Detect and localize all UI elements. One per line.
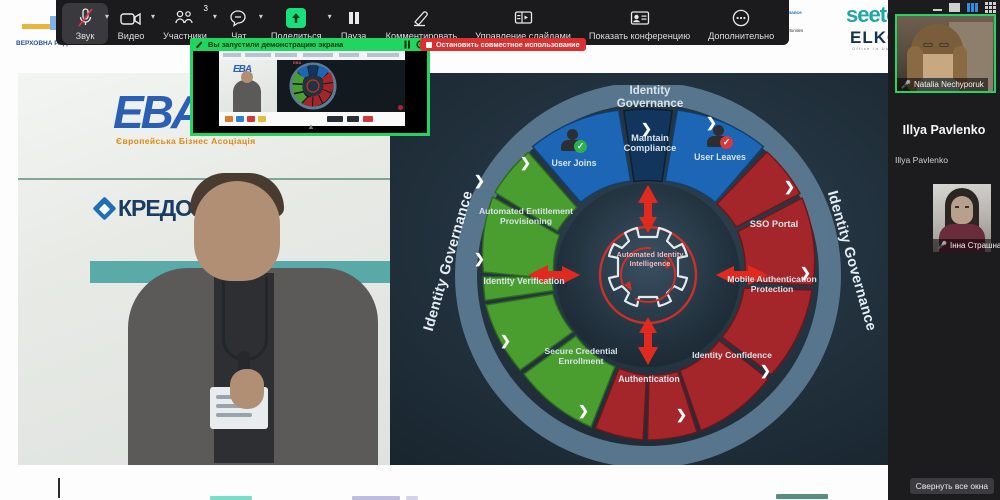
shared-screen-stage[interactable]: EBA Європейська Бізнес Асоціація КРЕДОБА…	[18, 73, 982, 465]
stop-sharing-label: Остановить совместное использование	[436, 40, 580, 49]
pause-small-icon[interactable]	[404, 40, 411, 49]
toolbar-button-more[interactable]: Дополнительно	[699, 3, 783, 44]
eba-logo-subtitle: Європейська Бізнес Асоціація	[116, 136, 256, 146]
toolbar-label-show-meeting: Показать конференцию	[589, 31, 690, 41]
preview-house-logo-icon	[398, 105, 403, 110]
chevron-up-icon[interactable]: ▲	[307, 122, 315, 131]
active-speaker-name: Illya Pavlenko	[888, 123, 1000, 137]
chevron-right-icon: ❯	[500, 333, 511, 349]
participant-tile-natalia[interactable]: 🎤 Natalia Nechyporuk	[895, 14, 996, 93]
user-check-green-icon: ✓	[560, 129, 586, 153]
eba-logo: EBA	[113, 85, 201, 139]
preview-wheel-diagram	[289, 62, 337, 110]
participants-side-panel[interactable]: 🎤 Natalia Nechyporuk Illya Pavlenko Illy…	[888, 0, 1000, 500]
microphone-muted-icon	[78, 7, 93, 29]
camera-icon	[120, 7, 142, 29]
kredobank-diamond-icon	[92, 196, 116, 220]
chevron-right-icon: ❯	[676, 407, 687, 423]
speaker-person	[126, 173, 390, 465]
wheel-center-label: Automated Identity Intelligence	[604, 251, 696, 269]
chevron-right-icon: ❯	[520, 155, 531, 171]
preview-speaker	[233, 80, 261, 112]
screen-share-status-bar: Вы запустили демонстрацию экрана	[190, 38, 430, 51]
toolbar-label-audio: Звук	[76, 31, 95, 41]
segment-maintain-compliance	[624, 109, 672, 182]
chevron-right-icon: ❯	[474, 251, 485, 267]
stop-square-icon	[426, 42, 432, 48]
mute-icon: 🎤	[901, 81, 911, 89]
toolbar-button-audio[interactable]: Звук ▾	[62, 3, 108, 44]
show-meeting-icon	[630, 7, 650, 29]
toolbar-button-show-meeting[interactable]: Показать конференцию	[580, 3, 699, 44]
participant-name-label: Інна Страшна	[950, 241, 1000, 250]
speaker-lanyard	[222, 277, 268, 361]
annotate-pencil-icon	[412, 7, 430, 29]
text-cursor	[58, 478, 60, 498]
desktop-chip	[406, 496, 418, 500]
preview-slide-brand: EBA	[293, 60, 301, 65]
share-preview-content: EBA	[193, 51, 427, 133]
chevron-right-icon: ❯	[578, 403, 589, 419]
participants-icon	[175, 7, 195, 29]
share-preview-window[interactable]: EBA	[190, 51, 430, 136]
participant-name-illya[interactable]: Illya Pavlenko	[895, 155, 948, 165]
pause-icon	[347, 7, 361, 29]
share-screen-icon	[286, 7, 306, 29]
gallery-grid-icon[interactable]	[985, 2, 996, 13]
view-layout-controls[interactable]	[933, 2, 996, 13]
speaker-hand	[230, 369, 264, 409]
speaker-head	[194, 181, 280, 281]
slide-control-icon	[514, 7, 533, 29]
minimize-icon[interactable]	[933, 5, 942, 11]
toolbar-label-video: Видео	[118, 31, 145, 41]
participant-name-row: 🎤 Інна Страшна	[933, 239, 991, 252]
stop-sharing-button[interactable]: Остановить совместное использование	[420, 38, 586, 51]
chevron-right-icon: ❯	[760, 363, 771, 379]
single-view-icon[interactable]	[949, 3, 960, 12]
preview-stage: EBA	[219, 60, 405, 112]
minimize-all-windows-button[interactable]: Свернуть все окна	[910, 478, 994, 494]
pen-icon	[195, 40, 203, 49]
chevron-right-icon: ❯	[784, 179, 795, 195]
chevron-right-icon: ❯	[474, 173, 485, 189]
participant-name-label: Natalia Nechyporuk	[914, 80, 984, 89]
preview-browser-bar	[219, 51, 405, 60]
chevron-right-icon: ❯	[641, 121, 652, 137]
mute-icon: 🎤	[937, 242, 947, 250]
participants-count-badge: 3	[203, 4, 207, 13]
desktop-chip	[352, 496, 400, 500]
screen-share-status-label: Вы запустили демонстрацию экрана	[208, 40, 343, 49]
chevron-right-icon: ❯	[800, 265, 811, 281]
chevron-right-icon: ❯	[706, 115, 717, 131]
toolbar-label-more: Дополнительно	[708, 31, 774, 41]
desktop-chip	[210, 496, 252, 500]
chat-bubble-icon	[229, 7, 248, 29]
identity-governance-wheel: Identity Governance Identity Governance …	[428, 85, 868, 465]
toolbar-button-video[interactable]: Видео ▾	[108, 3, 154, 44]
side-by-side-view-icon[interactable]	[967, 3, 978, 13]
participant-name-row: 🎤 Natalia Nechyporuk	[897, 78, 988, 91]
more-ellipsis-icon	[732, 7, 750, 29]
preview-presenter: EBA	[219, 60, 277, 112]
desktop-chip	[776, 494, 828, 499]
